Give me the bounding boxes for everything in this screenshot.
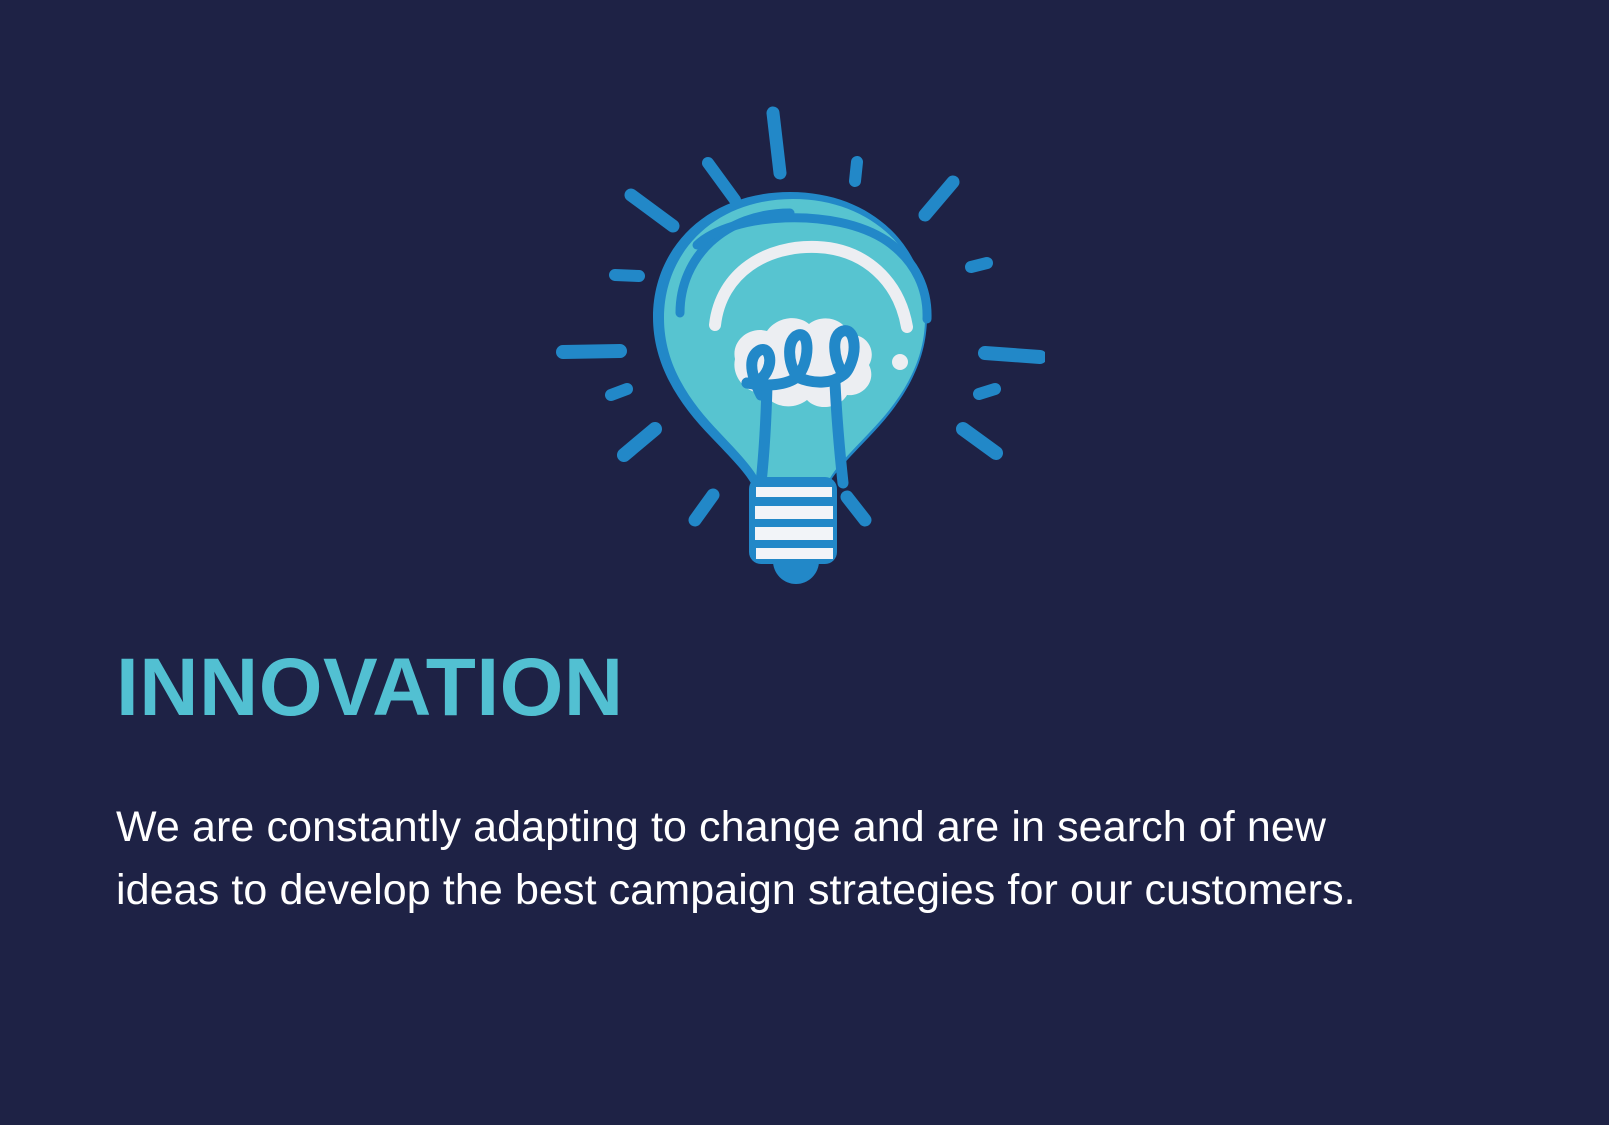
lightbulb-illustration bbox=[535, 95, 1045, 595]
ray-right-long bbox=[985, 353, 1040, 357]
ray-mid-left-short bbox=[615, 275, 639, 276]
innovation-value-card: INNOVATION We are constantly adapting to… bbox=[0, 0, 1609, 1125]
ray-left-long bbox=[563, 351, 620, 352]
ray-lower-right bbox=[963, 429, 996, 453]
base-tip bbox=[773, 561, 819, 584]
ray-upper-right bbox=[925, 182, 953, 215]
lightbulb-base bbox=[749, 477, 837, 584]
ray-mid-right-short bbox=[971, 263, 987, 267]
ray-bottom-right bbox=[847, 497, 865, 520]
ray-lower-right-short bbox=[979, 389, 995, 394]
lightbulb-body bbox=[653, 192, 927, 487]
card-text-block: INNOVATION We are constantly adapting to… bbox=[116, 640, 1446, 922]
ray-top-right-near bbox=[855, 162, 857, 181]
ray-lower-left bbox=[624, 429, 655, 455]
page-title: INNOVATION bbox=[116, 640, 1446, 736]
ray-top bbox=[773, 113, 780, 173]
card-description: We are constantly adapting to change and… bbox=[116, 736, 1426, 922]
ray-upper-left bbox=[631, 195, 673, 226]
bulb-highlight-dot bbox=[892, 354, 908, 370]
ray-bottom-left bbox=[695, 495, 713, 520]
ray-top-left-near bbox=[708, 163, 735, 200]
ray-lower-left-short bbox=[611, 389, 627, 395]
